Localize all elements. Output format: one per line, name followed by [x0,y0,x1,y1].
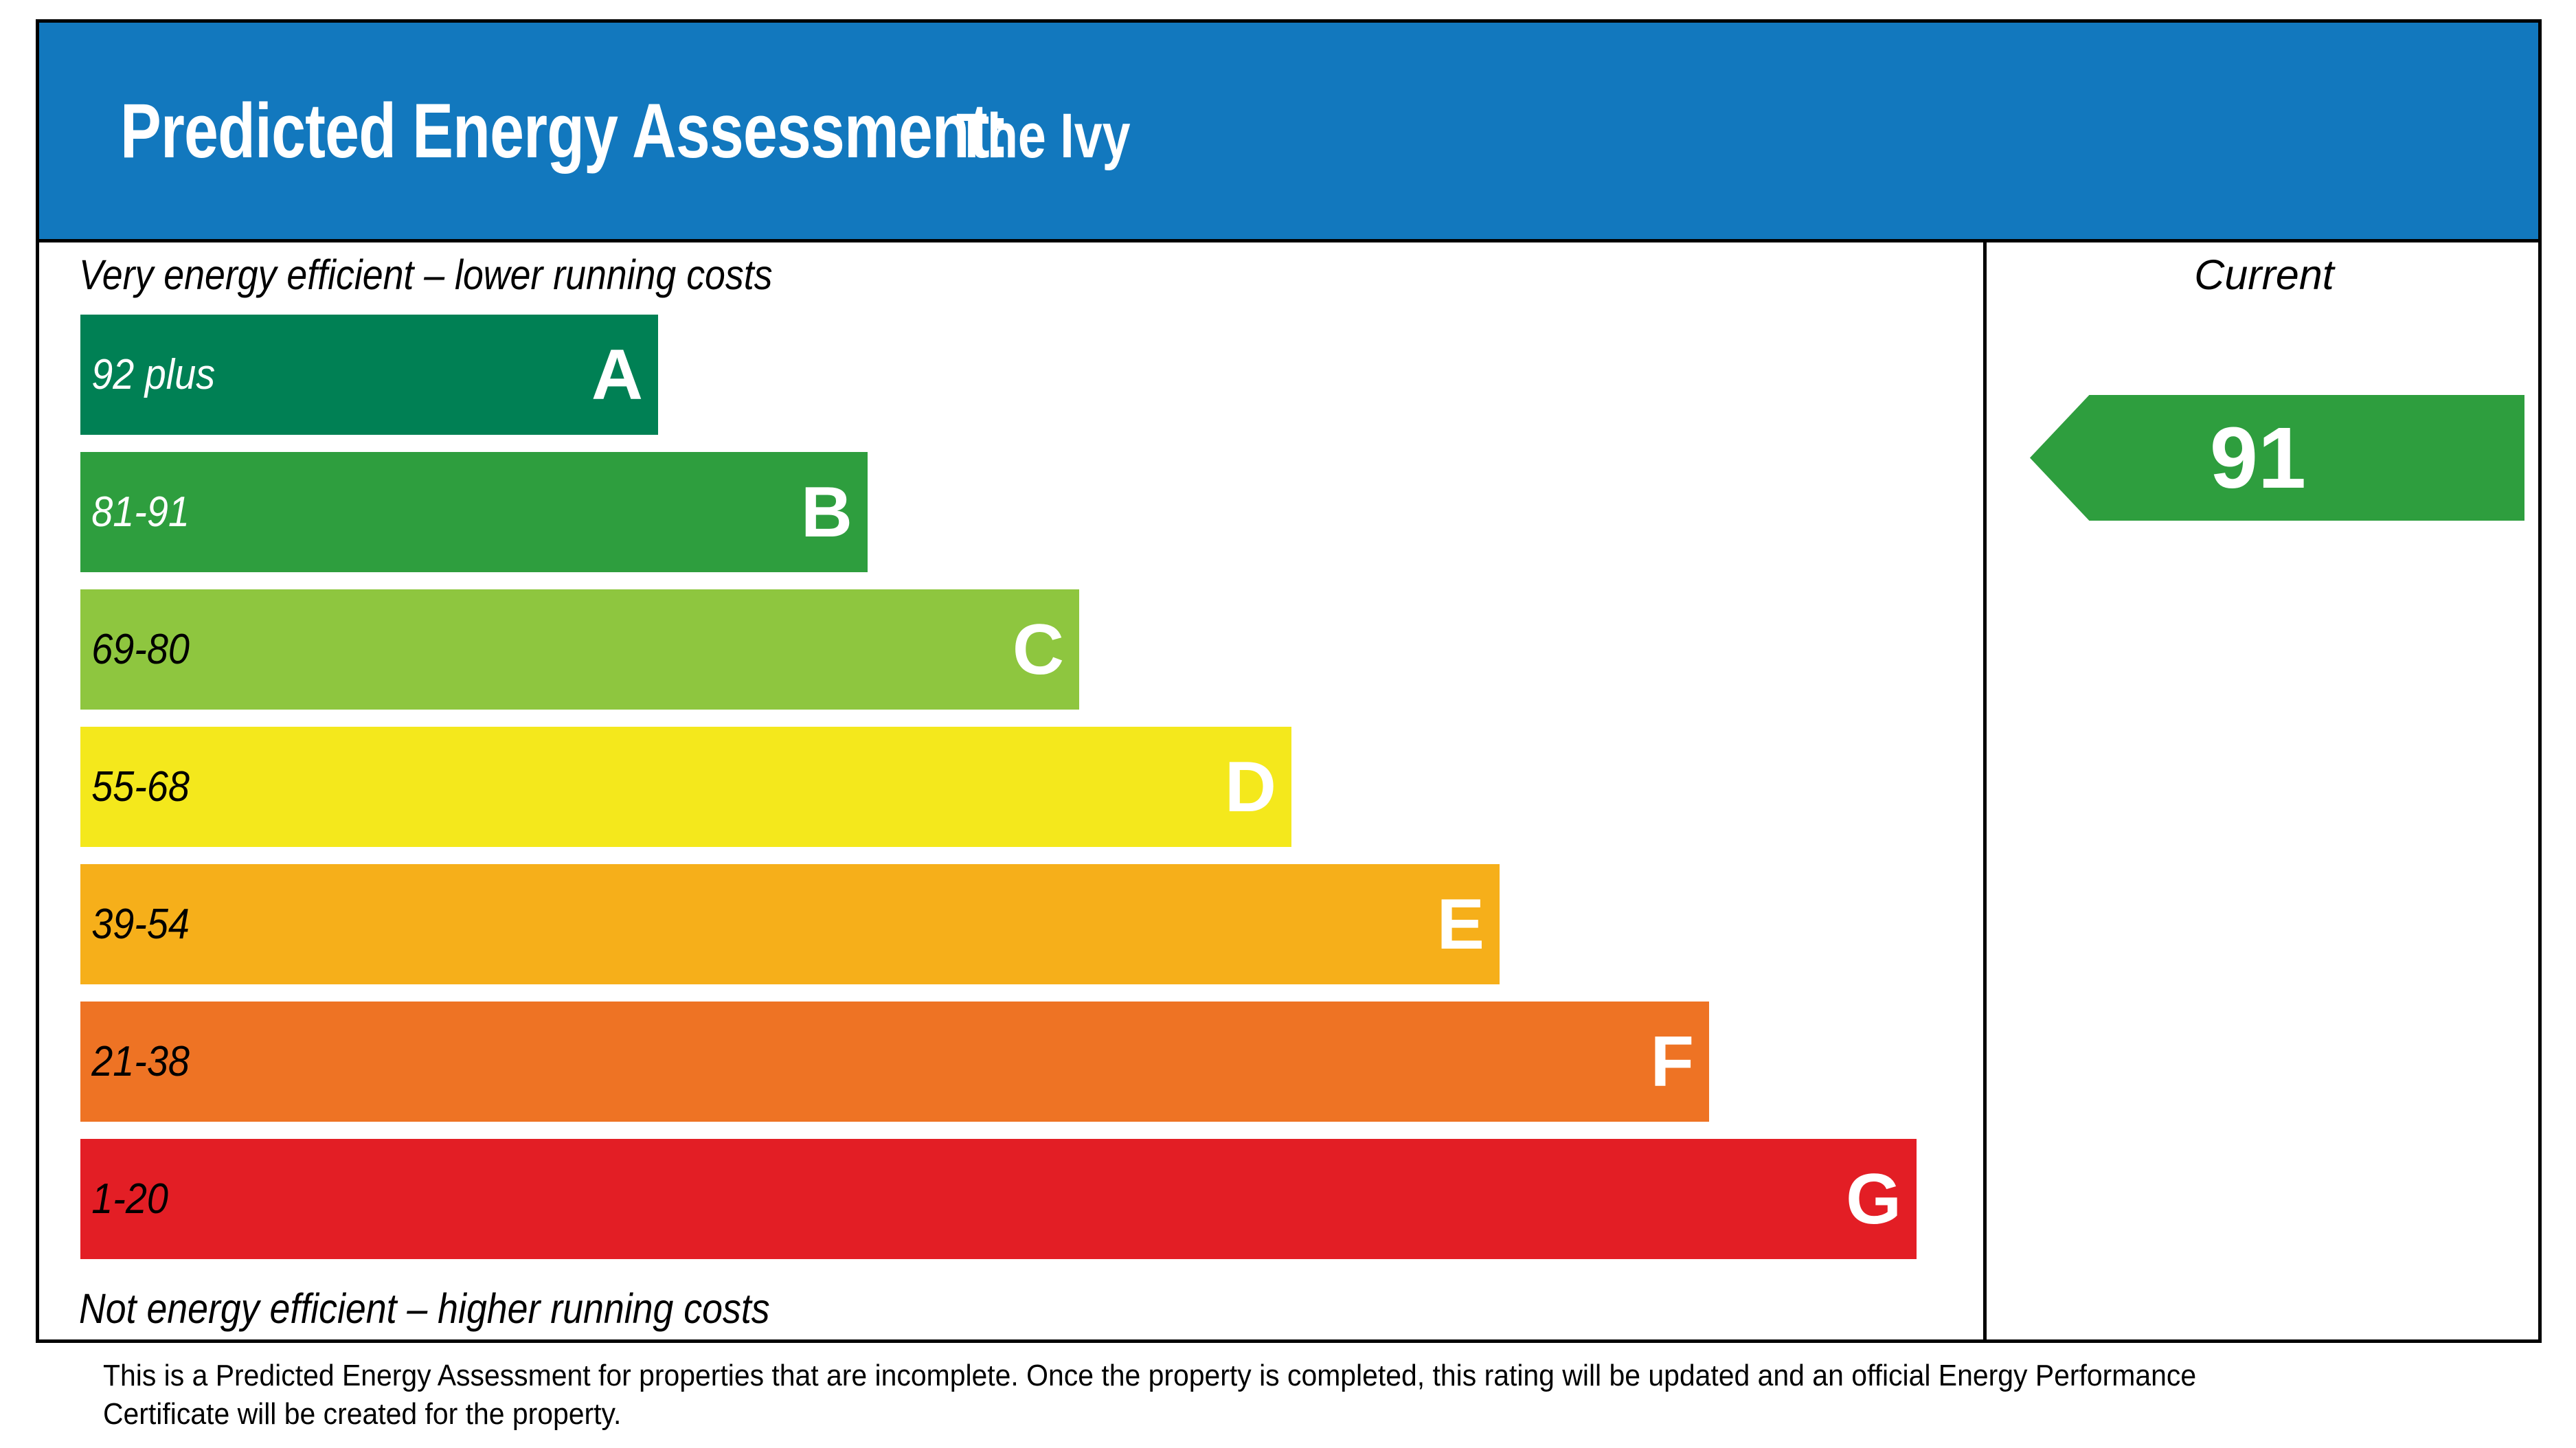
band-letter-g: G [1846,1164,1917,1235]
certificate-frame: Predicted Energy Assessment: The Ivy Ver… [36,19,2542,1343]
certificate-header: Predicted Energy Assessment: The Ivy [39,23,2538,242]
current-column-header: Current [1990,251,2538,299]
band-letter-b: B [801,477,868,548]
current-rating-value: 91 [2210,415,2306,501]
certificate-body: Very energy efficient – lower running co… [39,242,2538,1339]
band-row-g: 1-20 G [80,1139,1917,1259]
efficiency-caption-top: Very energy efficient – lower running co… [79,251,772,299]
band-range-f: 21-38 [80,1037,190,1086]
epc-certificate: Predicted Energy Assessment: The Ivy Ver… [0,0,2576,1448]
band-letter-d: D [1225,751,1291,823]
band-letter-c: C [1013,614,1079,686]
band-row-f: 21-38 F [80,1002,1709,1122]
property-name: The Ivy [956,100,1131,172]
band-letter-a: A [591,339,658,411]
current-rating-column: Current 91 [1990,242,2538,1339]
page-title: Predicted Energy Assessment: [120,87,1009,175]
band-row-b: 81-91 B [80,452,868,572]
band-range-e: 39-54 [80,900,190,949]
footer-note: This is a Predicted Energy Assessment fo… [103,1357,2326,1434]
band-row-a: 92 plus A [80,315,658,435]
efficiency-caption-bottom: Not energy efficient – higher running co… [79,1285,770,1333]
energy-band-list: 92 plus A 81-91 B 69-80 C 55-68 D [80,315,1917,1276]
band-range-c: 69-80 [80,625,190,674]
band-range-d: 55-68 [80,762,190,811]
band-letter-e: E [1437,889,1500,960]
band-range-g: 1-20 [80,1175,168,1223]
band-row-e: 39-54 E [80,864,1500,984]
header-text-group: Predicted Energy Assessment: The Ivy [39,87,1174,175]
band-row-d: 55-68 D [80,727,1291,847]
left-arrow-icon: 91 [2030,395,2524,521]
energy-bands-column: Very energy efficient – lower running co… [39,242,1987,1339]
band-range-b: 81-91 [80,488,190,536]
current-rating-badge: 91 [2030,395,2524,521]
band-range-a: 92 plus [80,350,215,399]
band-row-c: 69-80 C [80,589,1079,710]
band-letter-f: F [1650,1026,1709,1098]
